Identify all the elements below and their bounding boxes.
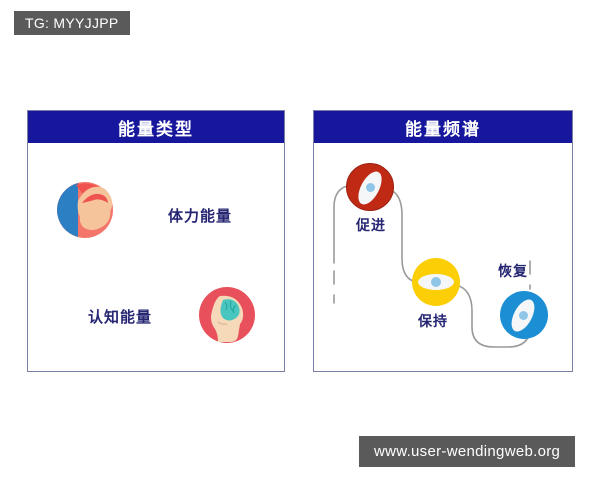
spectrum-label-promote: 促进 xyxy=(356,215,386,235)
panel-energy-types: 能量类型 体力能量 认知能量 xyxy=(27,110,285,372)
watermark-url-bottom: www.user-wendingweb.org xyxy=(359,436,575,467)
spectrum-label-maintain: 保持 xyxy=(418,311,448,331)
panel-right-body: 促进 保持 恢复 xyxy=(314,143,572,371)
panel-energy-spectrum: 能量频谱 促进 保持 恢复 xyxy=(313,110,573,372)
spectrum-node-recover[interactable] xyxy=(500,291,548,339)
panel-right-title: 能量频谱 xyxy=(314,111,572,143)
watermark-badge-top: TG: MYYJJPP xyxy=(14,11,130,35)
spectrum-node-promote[interactable] xyxy=(346,163,394,211)
spectrum-label-recover: 恢复 xyxy=(498,261,528,281)
eye-pupil-icon xyxy=(519,311,528,320)
energy-type-label-cognitive: 认知能量 xyxy=(88,306,152,327)
head-brain-icon xyxy=(198,286,256,344)
eye-pupil-icon xyxy=(431,277,441,287)
eye-pupil-icon xyxy=(366,183,375,192)
spectrum-node-maintain[interactable] xyxy=(412,258,460,306)
energy-type-label-physical: 体力能量 xyxy=(168,205,232,226)
panel-left-title: 能量类型 xyxy=(28,111,284,143)
panel-left-body: 体力能量 认知能量 xyxy=(28,143,284,371)
muscle-arm-icon xyxy=(56,181,114,239)
